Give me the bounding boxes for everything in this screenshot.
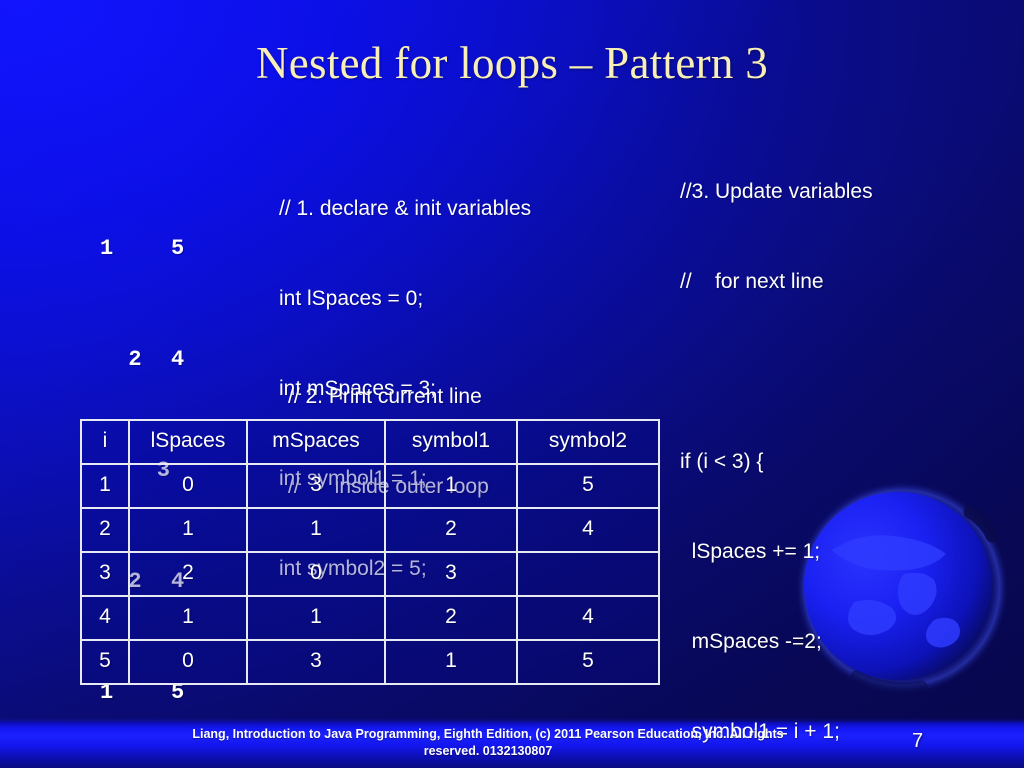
table-cell: 1 [385,640,517,684]
code-line: // 1. declare & init variables [279,194,531,224]
table-cell: 0 [129,640,247,684]
table-cell: 5 [81,640,129,684]
table-row: 2 1 1 2 4 [81,508,659,552]
pattern-line: 1 5 [100,230,185,267]
column-header-i: i [81,420,129,464]
table-cell: 1 [247,596,385,640]
table-cell: 1 [385,464,517,508]
table-row: 3 2 0 3 [81,552,659,596]
table-cell [517,552,659,596]
code-line: // 2. Print current line [288,382,489,412]
pattern-line: 2 4 [100,341,185,378]
table-row: 1 0 3 1 5 [81,464,659,508]
table-cell: 1 [247,508,385,552]
column-header-mspaces: mSpaces [247,420,385,464]
code-line: // for next line [680,267,873,297]
table-cell: 4 [517,596,659,640]
table-cell: 3 [247,640,385,684]
code-line [680,357,873,387]
table-cell: 3 [81,552,129,596]
table-cell: 1 [129,508,247,552]
table-cell: 2 [385,596,517,640]
table-cell: 3 [247,464,385,508]
table-cell: 2 [81,508,129,552]
slide-canvas: Nested for loops – Pattern 3 1 5 2 4 3 2… [0,0,1024,768]
code-line: mSpaces -=2; [680,627,873,657]
table-cell: 2 [129,552,247,596]
trace-table-wrapper: i lSpaces mSpaces symbol1 symbol2 1 0 3 … [80,419,658,685]
code-line: //3. Update variables [680,177,873,207]
table-cell: 5 [517,464,659,508]
table-cell: 3 [385,552,517,596]
trace-table: i lSpaces mSpaces symbol1 symbol2 1 0 3 … [80,419,660,685]
table-cell: 2 [385,508,517,552]
table-cell: 4 [517,508,659,552]
column-header-lspaces: lSpaces [129,420,247,464]
table-cell: 1 [129,596,247,640]
code-line: lSpaces += 1; [680,537,873,567]
table-cell: 0 [247,552,385,596]
table-header-row: i lSpaces mSpaces symbol1 symbol2 [81,420,659,464]
page-title: Nested for loops – Pattern 3 [0,36,1024,90]
column-header-symbol1: symbol1 [385,420,517,464]
table-row: 4 1 1 2 4 [81,596,659,640]
table-cell: 5 [517,640,659,684]
column-header-symbol2: symbol2 [517,420,659,464]
code-block-update-variables: //3. Update variables // for next line i… [680,117,873,768]
code-line: if (i < 3) { [680,447,873,477]
table-row: 5 0 3 1 5 [81,640,659,684]
copyright-footer: Liang, Introduction to Java Programming,… [178,726,798,760]
table-cell: 0 [129,464,247,508]
table-cell: 1 [81,464,129,508]
page-number: 7 [912,730,923,753]
code-line: int lSpaces = 0; [279,284,531,314]
table-cell: 4 [81,596,129,640]
